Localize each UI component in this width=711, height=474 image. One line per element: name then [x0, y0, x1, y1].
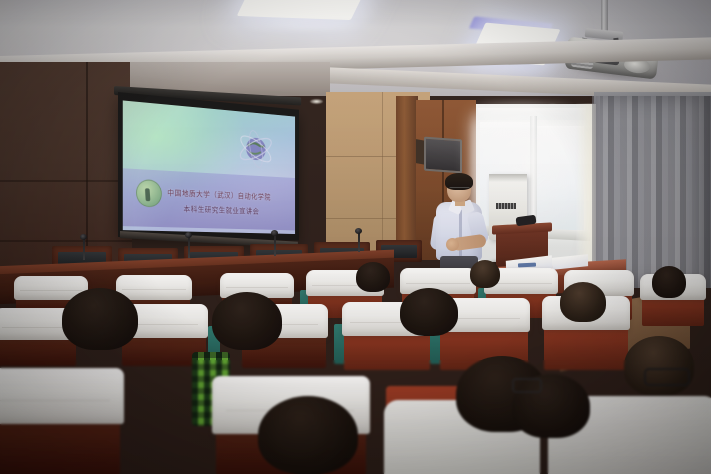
microphone-stem: [358, 232, 360, 252]
glasses-icon: [644, 368, 690, 386]
cover-crease: [128, 324, 198, 325]
audience-head-foreground: [258, 396, 358, 474]
air-conditioner-grille: [496, 203, 516, 209]
audience-head: [560, 282, 606, 322]
cover-crease: [122, 289, 186, 290]
lecture-hall-photo: 中国地质大学（武汉）自动化学院 本科生研究生就业宣讲会: [0, 0, 711, 474]
cover-crease: [226, 287, 288, 288]
air-conditioner-top-shadow: [489, 174, 527, 182]
microphone-stem: [188, 236, 190, 258]
microphone-icon: [355, 228, 362, 234]
microphone-icon: [185, 232, 192, 238]
wall-speaker-icon: [424, 137, 462, 174]
chair-cover: [0, 368, 124, 424]
microphone-icon: [271, 230, 278, 236]
microphone-stem: [83, 238, 85, 260]
audience-head: [400, 288, 458, 336]
cover-crease: [490, 283, 552, 284]
projection-screen: 中国地质大学（武汉）自动化学院 本科生研究生就业宣讲会: [118, 92, 299, 240]
cover-crease: [2, 327, 68, 328]
cover-crease: [20, 290, 82, 291]
audience-head: [212, 292, 282, 350]
wall-wood-trim: [396, 96, 418, 260]
audience-head-foreground: [624, 336, 694, 396]
presenter-hand: [446, 238, 459, 251]
cover-crease: [0, 400, 110, 401]
chair-cover: [116, 275, 192, 300]
university-logo-mark: [145, 188, 150, 201]
microphone-icon: [80, 234, 87, 240]
microphone-stem: [274, 234, 276, 256]
cover-crease: [406, 283, 470, 284]
glasses-icon: [449, 187, 470, 193]
audience-head: [652, 266, 686, 298]
downlight: [310, 99, 323, 104]
glasses-icon: [512, 378, 542, 393]
curtain-leading-edge: [592, 96, 600, 288]
globe-icon: [237, 126, 275, 169]
projection-screen-surface: 中国地质大学（武汉）自动化学院 本科生研究生就业宣讲会: [123, 100, 295, 234]
audience-head: [62, 288, 138, 350]
audience-head: [470, 260, 500, 288]
audience-head: [356, 262, 390, 292]
